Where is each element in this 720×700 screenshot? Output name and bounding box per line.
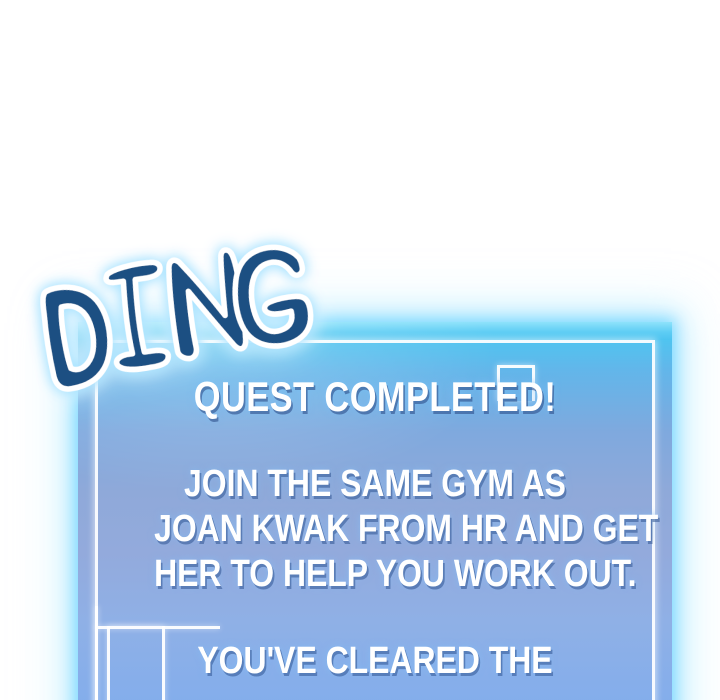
quest-reward-text: YOU'VE CLEARED THE — [112, 639, 638, 684]
quest-description-line: JOAN KWAK FROM HR AND GET — [154, 507, 596, 552]
quest-description-line: HER TO HELP YOU WORK OUT. — [154, 552, 596, 597]
quest-reward-line: YOU'VE CLEARED THE — [154, 639, 596, 684]
corner-bracket-icon — [95, 606, 98, 700]
quest-panel-text: QUEST COMPLETED! JOIN THE SAME GYM AS JO… — [112, 374, 638, 684]
panel-top-accent-edge — [78, 322, 672, 340]
quest-description: JOIN THE SAME GYM AS JOAN KWAK FROM HR A… — [112, 462, 638, 597]
comic-panel-scene: QUEST COMPLETED! JOIN THE SAME GYM AS JO… — [0, 0, 720, 700]
quest-headline: QUEST COMPLETED! — [159, 374, 590, 420]
quest-description-line: JOIN THE SAME GYM AS — [154, 462, 596, 507]
quest-completed-panel: QUEST COMPLETED! JOIN THE SAME GYM AS JO… — [78, 322, 672, 700]
